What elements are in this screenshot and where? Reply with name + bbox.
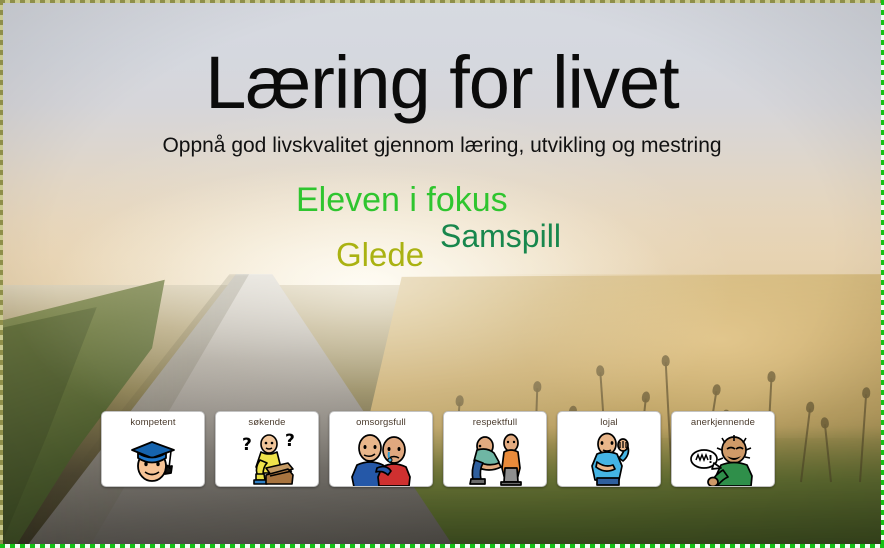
pictogram-card-label: søkende xyxy=(248,417,285,428)
graduate-face-icon xyxy=(102,428,204,486)
svg-text:?: ? xyxy=(242,435,252,455)
person-praising-speech-icon: ! xyxy=(672,428,774,486)
pictogram-card-sokende[interactable]: søkende ? ? xyxy=(215,411,319,487)
page-title: Læring for livet xyxy=(0,46,884,120)
pictogram-card-label: kompetent xyxy=(130,417,175,428)
pictogram-card-kompetent[interactable]: kompetent xyxy=(101,411,205,487)
hand-on-heart-oath-icon xyxy=(558,428,660,486)
value-word-samspill: Samspill xyxy=(440,218,561,255)
pictogram-card-omsorgsfull[interactable]: omsorgsfull xyxy=(329,411,433,487)
pictogram-card-label: anerkjennende xyxy=(691,417,755,428)
pictogram-card-label: omsorgsfull xyxy=(356,417,406,428)
two-people-comforting-icon xyxy=(330,428,432,486)
page-subtitle: Oppnå god livskvalitet gjennom læring, u… xyxy=(0,133,884,158)
selection-border-left xyxy=(0,0,3,548)
pictogram-card-label: lojal xyxy=(600,417,617,428)
pictogram-card-anerkjennende[interactable]: anerkjennende ! xyxy=(671,411,775,487)
presentation-slide[interactable]: Læring for livet Oppnå god livskvalitet … xyxy=(0,0,884,548)
pictogram-card-label: respektfull xyxy=(473,417,517,428)
person-questioning-chest-icon: ? ? xyxy=(216,428,318,486)
svg-text:?: ? xyxy=(285,431,295,451)
value-word-eleven-i-fokus: Eleven i fokus xyxy=(296,181,508,220)
svg-text:!: ! xyxy=(708,453,713,466)
person-bowing-icon xyxy=(444,428,546,486)
selection-border-bottom[interactable] xyxy=(0,544,884,548)
selection-border-top xyxy=(0,0,884,3)
pictogram-card-strip: kompetent søkende xyxy=(101,411,775,487)
pictogram-card-lojal[interactable]: lojal xyxy=(557,411,661,487)
pictogram-card-respektfull[interactable]: respektfull xyxy=(443,411,547,487)
value-word-glede: Glede xyxy=(336,236,424,274)
